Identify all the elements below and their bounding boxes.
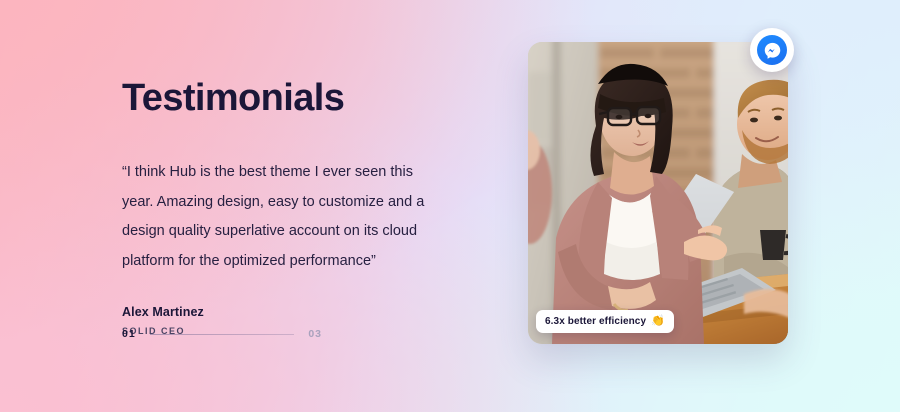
testimonial-quote: “I think Hub is the best theme I ever se…: [122, 158, 442, 277]
testimonial-content: Testimonials “I think Hub is the best th…: [122, 78, 462, 336]
pagination-total-index[interactable]: 03: [308, 328, 322, 340]
testimonials-section: Testimonials “I think Hub is the best th…: [0, 0, 900, 412]
messenger-icon: [757, 35, 787, 65]
page-title: Testimonials: [122, 78, 462, 120]
pagination-progress-line[interactable]: [150, 334, 295, 335]
efficiency-badge: 6.3x better efficiency 👏: [536, 310, 674, 333]
clapping-hands-icon: 👏: [651, 316, 665, 327]
pagination-current-index[interactable]: 01: [122, 328, 136, 340]
efficiency-badge-label: 6.3x better efficiency: [545, 316, 646, 327]
testimonial-pagination[interactable]: 01 03: [122, 328, 322, 340]
testimonial-photo-card: [528, 42, 788, 344]
messenger-chat-button[interactable]: [750, 28, 794, 72]
office-photo: [528, 42, 788, 344]
testimonial-author-name: Alex Martinez: [122, 305, 462, 319]
